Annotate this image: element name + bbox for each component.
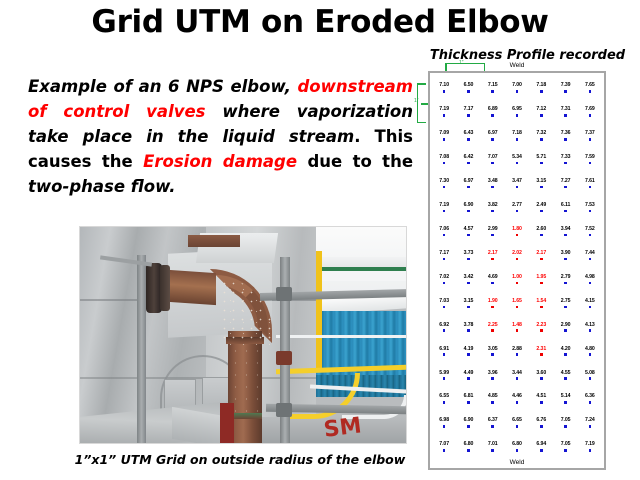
- thickness-value: 7.01: [488, 442, 498, 447]
- thickness-value: 3.73: [464, 251, 474, 256]
- thickness-cell-r11-c1[interactable]: 6.92: [432, 315, 456, 339]
- thickness-value: 6.81: [464, 394, 474, 399]
- measurement-point-marker: [516, 186, 519, 189]
- thickness-value: 2.25: [488, 323, 498, 328]
- thickness-value: 7.69: [585, 107, 595, 112]
- measurement-point-marker: [443, 234, 446, 237]
- thickness-cell-r5-c4[interactable]: 3.47: [505, 172, 529, 196]
- thickness-value: 2.49: [536, 203, 546, 208]
- measurement-point-marker: [467, 401, 470, 404]
- thickness-value: 1.80: [512, 227, 522, 232]
- thickness-value: 5.14: [561, 394, 571, 399]
- thickness-cell-r11-c2[interactable]: 3.78: [456, 315, 480, 339]
- measurement-point-marker: [443, 353, 446, 356]
- thickness-value: 2.77: [512, 203, 522, 208]
- thickness-cell-r2-c2[interactable]: 7.17: [456, 100, 480, 124]
- measurement-point-marker: [516, 329, 519, 332]
- thickness-cell-r16-c6[interactable]: 7.05: [553, 435, 577, 459]
- thickness-cell-r8-c2[interactable]: 3.73: [456, 244, 480, 268]
- measurement-point-marker: [491, 329, 494, 332]
- thickness-cell-r15-c5[interactable]: 6.76: [529, 411, 553, 435]
- thickness-cell-r13-c2[interactable]: 4.49: [456, 363, 480, 387]
- elbow-photo: SM: [79, 226, 407, 444]
- thickness-value: 1.00: [512, 275, 522, 280]
- thickness-value: 7.07: [439, 442, 449, 447]
- measurement-point-marker: [564, 425, 567, 428]
- measurement-point-marker: [443, 449, 446, 452]
- thickness-cell-r9-c7[interactable]: 4.98: [578, 268, 602, 292]
- measurement-point-marker: [564, 234, 567, 237]
- thickness-cell-r2-c3[interactable]: 6.89: [481, 100, 505, 124]
- thickness-value: 7.15: [488, 83, 498, 88]
- thickness-cell-r15-c7[interactable]: 7.24: [578, 411, 602, 435]
- measurement-point-marker: [589, 377, 592, 380]
- thickness-cell-r15-c1[interactable]: 6.98: [432, 411, 456, 435]
- thickness-value: 5.08: [585, 371, 595, 376]
- measurement-point-marker: [516, 425, 519, 428]
- thickness-value: 5.71: [536, 155, 546, 160]
- thickness-value: 3.15: [464, 299, 474, 304]
- thickness-cell-r12-c2[interactable]: 4.19: [456, 339, 480, 363]
- measurement-point-marker: [589, 425, 592, 428]
- thickness-value: 7.59: [585, 155, 595, 160]
- thickness-cell-r9-c3[interactable]: 4.69: [481, 268, 505, 292]
- measurement-point-marker: [491, 377, 494, 380]
- thickness-value: 7.09: [439, 131, 449, 136]
- measurement-point-marker: [516, 306, 519, 309]
- thickness-cell-r4-c2[interactable]: 6.42: [456, 148, 480, 172]
- thickness-value: 2.99: [488, 227, 498, 232]
- thickness-cell-r7-c5[interactable]: 2.60: [529, 220, 553, 244]
- thickness-value: 5.99: [439, 371, 449, 376]
- measurement-point-marker: [491, 425, 494, 428]
- measurement-point-marker: [443, 90, 446, 93]
- thickness-value: 4.49: [464, 371, 474, 376]
- thickness-value: 4.55: [561, 371, 571, 376]
- thickness-grid-panel: 7.106.507.157.007.187.397.657.197.176.89…: [428, 71, 606, 470]
- thickness-value: 7.39: [561, 83, 571, 88]
- thickness-value: 6.50: [464, 83, 474, 88]
- thickness-cell-r9-c5[interactable]: 1.95: [529, 268, 553, 292]
- dimension-marker-horizontal: [445, 63, 485, 71]
- thickness-value: 7.05: [561, 418, 571, 423]
- measurement-point-marker: [443, 329, 446, 332]
- thickness-value: 6.94: [536, 442, 546, 447]
- thickness-cell-r1-c5[interactable]: 7.18: [529, 76, 553, 100]
- elbow-photo-image: SM: [80, 227, 406, 443]
- thickness-cell-r6-c5[interactable]: 2.49: [529, 196, 553, 220]
- measurement-point-marker: [540, 282, 543, 285]
- thickness-cell-r2-c5[interactable]: 7.12: [529, 100, 553, 124]
- thickness-cell-r12-c5[interactable]: 2.31: [529, 339, 553, 363]
- thickness-value: 3.47: [512, 179, 522, 184]
- thickness-cell-r1-c6[interactable]: 7.39: [553, 76, 577, 100]
- measurement-point-marker: [516, 114, 519, 117]
- thickness-cell-r8-c1[interactable]: 7.17: [432, 244, 456, 268]
- measurement-point-marker: [589, 162, 592, 165]
- thickness-cell-r13-c3[interactable]: 3.96: [481, 363, 505, 387]
- thickness-value: 3.60: [536, 371, 546, 376]
- thickness-cell-r13-c4[interactable]: 3.44: [505, 363, 529, 387]
- thickness-value: 7.18: [536, 83, 546, 88]
- description-segment-6: two-phase flow.: [28, 177, 176, 196]
- thickness-cell-r9-c6[interactable]: 2.79: [553, 268, 577, 292]
- thickness-value: 7.44: [585, 251, 595, 256]
- thickness-cell-r5-c7[interactable]: 7.61: [578, 172, 602, 196]
- thickness-value: 5.34: [512, 155, 522, 160]
- thickness-value: 7.18: [512, 131, 522, 136]
- measurement-point-marker: [564, 210, 567, 213]
- thickness-value: 4.20: [561, 347, 571, 352]
- thickness-value: 2.79: [561, 275, 571, 280]
- thickness-cell-r9-c1[interactable]: 7.02: [432, 268, 456, 292]
- thickness-cell-r5-c1[interactable]: 7.30: [432, 172, 456, 196]
- measurement-point-marker: [467, 258, 470, 261]
- thickness-value: 6.37: [488, 418, 498, 423]
- thickness-cell-r3-c3[interactable]: 6.97: [481, 124, 505, 148]
- thickness-value: 1.90: [488, 299, 498, 304]
- thickness-cell-r7-c1[interactable]: 7.06: [432, 220, 456, 244]
- photo-scaffold-clamp-1: [276, 287, 292, 301]
- thickness-value: 2.88: [512, 347, 522, 352]
- thickness-cell-r11-c5[interactable]: 2.23: [529, 315, 553, 339]
- measurement-point-marker: [540, 425, 543, 428]
- description-segment-5: due to the: [297, 152, 413, 171]
- photo-caption: 1”x1” UTM Grid on outside radius of the …: [55, 452, 425, 467]
- thickness-cell-r2-c4[interactable]: 6.95: [505, 100, 529, 124]
- thickness-cell-r10-c6[interactable]: 2.75: [553, 291, 577, 315]
- measurement-point-marker: [516, 258, 519, 261]
- thickness-value: 6.98: [439, 418, 449, 423]
- thickness-value: 7.61: [585, 179, 595, 184]
- thickness-cell-r8-c7[interactable]: 7.44: [578, 244, 602, 268]
- thickness-cell-r1-c3[interactable]: 7.15: [481, 76, 505, 100]
- photo-nozzle-flange-2: [160, 265, 170, 311]
- thickness-cell-r16-c4[interactable]: 6.80: [505, 435, 529, 459]
- thickness-cell-r5-c2[interactable]: 6.97: [456, 172, 480, 196]
- thickness-value: 6.89: [488, 107, 498, 112]
- thickness-cell-r7-c6[interactable]: 3.94: [553, 220, 577, 244]
- measurement-point-marker: [491, 114, 494, 117]
- thickness-cell-r13-c6[interactable]: 4.55: [553, 363, 577, 387]
- thickness-cell-r7-c3[interactable]: 2.99: [481, 220, 505, 244]
- thickness-cell-r3-c7[interactable]: 7.37: [578, 124, 602, 148]
- thickness-cell-r13-c1[interactable]: 5.99: [432, 363, 456, 387]
- measurement-point-marker: [589, 282, 592, 285]
- thickness-value: 7.12: [536, 107, 546, 112]
- thickness-value: 6.95: [512, 107, 522, 112]
- thickness-value: 7.27: [561, 179, 571, 184]
- measurement-point-marker: [564, 258, 567, 261]
- photo-white-rail: [276, 335, 407, 338]
- thickness-cell-r7-c7[interactable]: 7.52: [578, 220, 602, 244]
- measurement-point-marker: [491, 162, 494, 165]
- thickness-value: 7.19: [585, 442, 595, 447]
- measurement-point-marker: [443, 186, 446, 189]
- thickness-value: 3.48: [488, 179, 498, 184]
- measurement-point-marker: [516, 210, 519, 213]
- measurement-point-marker: [516, 90, 519, 93]
- measurement-point-marker: [540, 401, 543, 404]
- thickness-cell-r12-c7[interactable]: 4.80: [578, 339, 602, 363]
- thickness-cell-r3-c1[interactable]: 7.09: [432, 124, 456, 148]
- thickness-cell-r4-c1[interactable]: 7.08: [432, 148, 456, 172]
- thickness-value: 1.48: [512, 323, 522, 328]
- thickness-value: 6.97: [464, 179, 474, 184]
- thickness-cell-r9-c4[interactable]: 1.00: [505, 268, 529, 292]
- measurement-point-marker: [589, 210, 592, 213]
- measurement-point-marker: [467, 162, 470, 165]
- thickness-value: 6.80: [464, 442, 474, 447]
- thickness-cell-r1-c1[interactable]: 7.10: [432, 76, 456, 100]
- thickness-cell-r4-c7[interactable]: 7.59: [578, 148, 602, 172]
- thickness-value: 6.90: [464, 203, 474, 208]
- description-segment-0: Example of an 6 NPS elbow,: [28, 77, 298, 96]
- thickness-cell-r3-c2[interactable]: 6.43: [456, 124, 480, 148]
- thickness-value: 3.82: [488, 203, 498, 208]
- thickness-cell-r12-c4[interactable]: 2.88: [505, 339, 529, 363]
- thickness-value: 3.96: [488, 371, 498, 376]
- page-title: Grid UTM on Eroded Elbow: [0, 4, 640, 40]
- thickness-cell-r7-c4[interactable]: 1.80: [505, 220, 529, 244]
- thickness-cell-r13-c5[interactable]: 3.60: [529, 363, 553, 387]
- thickness-cell-r1-c2[interactable]: 6.50: [456, 76, 480, 100]
- photo-scaffold-clamp-2: [276, 351, 292, 365]
- thickness-value: 4.85: [488, 394, 498, 399]
- thickness-cell-r3-c6[interactable]: 7.36: [553, 124, 577, 148]
- measurement-point-marker: [516, 401, 519, 404]
- measurement-point-marker: [443, 162, 446, 165]
- measurement-point-marker: [589, 353, 592, 356]
- measurement-point-marker: [516, 282, 519, 285]
- measurement-point-marker: [491, 353, 494, 356]
- thickness-value: 3.44: [512, 371, 522, 376]
- thickness-cell-r16-c3[interactable]: 7.01: [481, 435, 505, 459]
- thickness-cell-r16-c7[interactable]: 7.19: [578, 435, 602, 459]
- photo-utm-grid-marks-lower: [230, 345, 260, 415]
- grid-heading: Thickness Profile recorded: [420, 48, 635, 63]
- thickness-value: 6.91: [439, 347, 449, 352]
- thickness-cell-r6-c6[interactable]: 6.11: [553, 196, 577, 220]
- thickness-value: 3.05: [488, 347, 498, 352]
- thickness-value: 6.43: [464, 131, 474, 136]
- measurement-point-marker: [491, 306, 494, 309]
- measurement-point-marker: [564, 186, 567, 189]
- thickness-cell-r4-c5[interactable]: 5.71: [529, 148, 553, 172]
- measurement-point-marker: [564, 377, 567, 380]
- description-segment-4: Erosion damage: [143, 152, 297, 171]
- thickness-cell-r11-c4[interactable]: 1.48: [505, 315, 529, 339]
- thickness-value: 2.17: [488, 251, 498, 256]
- weld-label-bottom: Weld: [428, 459, 606, 466]
- measurement-point-marker: [467, 210, 470, 213]
- measurement-point-marker: [589, 234, 592, 237]
- thickness-cell-r10-c2[interactable]: 3.15: [456, 291, 480, 315]
- thickness-value: 2.02: [512, 251, 522, 256]
- thickness-cell-r10-c1[interactable]: 7.03: [432, 291, 456, 315]
- thickness-cell-r11-c7[interactable]: 4.13: [578, 315, 602, 339]
- measurement-point-marker: [564, 162, 567, 165]
- thickness-value: 3.94: [561, 227, 571, 232]
- thickness-cell-r14-c1[interactable]: 6.55: [432, 387, 456, 411]
- measurement-point-marker: [443, 377, 446, 380]
- thickness-value: 7.24: [585, 418, 595, 423]
- measurement-point-marker: [540, 114, 543, 117]
- measurement-point-marker: [467, 186, 470, 189]
- measurement-point-marker: [443, 138, 446, 141]
- measurement-point-marker: [540, 353, 543, 356]
- photo-scaffold-clamp-3: [276, 403, 292, 417]
- thickness-value: 7.32: [536, 131, 546, 136]
- thickness-value: 2.31: [536, 347, 546, 352]
- thickness-cell-r3-c4[interactable]: 7.18: [505, 124, 529, 148]
- thickness-cell-r2-c1[interactable]: 7.19: [432, 100, 456, 124]
- thickness-cell-r5-c6[interactable]: 7.27: [553, 172, 577, 196]
- thickness-cell-r14-c6[interactable]: 5.14: [553, 387, 577, 411]
- thickness-cell-r6-c4[interactable]: 2.77: [505, 196, 529, 220]
- thickness-cell-r13-c7[interactable]: 5.08: [578, 363, 602, 387]
- thickness-cell-r12-c6[interactable]: 4.20: [553, 339, 577, 363]
- thickness-cell-r6-c1[interactable]: 7.19: [432, 196, 456, 220]
- thickness-cell-r14-c4[interactable]: 4.46: [505, 387, 529, 411]
- thickness-cell-r8-c5[interactable]: 2.17: [529, 244, 553, 268]
- measurement-point-marker: [589, 90, 592, 93]
- measurement-point-marker: [467, 449, 470, 452]
- measurement-point-marker: [564, 353, 567, 356]
- thickness-cell-r3-c5[interactable]: 7.32: [529, 124, 553, 148]
- thickness-cell-r10-c7[interactable]: 4.15: [578, 291, 602, 315]
- thickness-cell-r8-c4[interactable]: 2.02: [505, 244, 529, 268]
- thickness-value: 6.11: [561, 203, 570, 208]
- thickness-grid-table: 7.106.507.157.007.187.397.657.197.176.89…: [430, 73, 604, 468]
- thickness-cell-r14-c2[interactable]: 6.81: [456, 387, 480, 411]
- thickness-value: 4.13: [585, 323, 595, 328]
- thickness-value: 7.17: [464, 107, 474, 112]
- measurement-point-marker: [564, 401, 567, 404]
- thickness-value: 1.54: [536, 299, 546, 304]
- measurement-point-marker: [516, 449, 519, 452]
- thickness-cell-r14-c7[interactable]: 6.36: [578, 387, 602, 411]
- thickness-cell-r4-c6[interactable]: 7.33: [553, 148, 577, 172]
- measurement-point-marker: [467, 90, 470, 93]
- measurement-point-marker: [564, 282, 567, 285]
- thickness-value: 1.95: [536, 275, 546, 280]
- thickness-cell-r12-c3[interactable]: 3.05: [481, 339, 505, 363]
- thickness-cell-r7-c2[interactable]: 4.57: [456, 220, 480, 244]
- thickness-value: 4.51: [536, 394, 546, 399]
- thickness-value: 7.31: [561, 107, 571, 112]
- thickness-cell-r14-c3[interactable]: 4.85: [481, 387, 505, 411]
- thickness-cell-r4-c3[interactable]: 7.07: [481, 148, 505, 172]
- thickness-cell-r5-c3[interactable]: 3.48: [481, 172, 505, 196]
- thickness-value: 6.92: [439, 323, 449, 328]
- thickness-cell-r11-c3[interactable]: 2.25: [481, 315, 505, 339]
- thickness-cell-r16-c2[interactable]: 6.80: [456, 435, 480, 459]
- thickness-cell-r11-c6[interactable]: 2.90: [553, 315, 577, 339]
- measurement-point-marker: [540, 234, 543, 237]
- thickness-cell-r15-c3[interactable]: 6.37: [481, 411, 505, 435]
- thickness-value: 7.52: [585, 227, 595, 232]
- thickness-cell-r10-c5[interactable]: 1.54: [529, 291, 553, 315]
- thickness-cell-r4-c4[interactable]: 5.34: [505, 148, 529, 172]
- measurement-point-marker: [467, 234, 470, 237]
- thickness-cell-r16-c1[interactable]: 7.07: [432, 435, 456, 459]
- measurement-point-marker: [516, 353, 519, 356]
- thickness-cell-r14-c5[interactable]: 4.51: [529, 387, 553, 411]
- measurement-point-marker: [540, 329, 543, 332]
- thickness-value: 2.90: [561, 323, 571, 328]
- thickness-value: 7.53: [585, 203, 595, 208]
- measurement-point-marker: [443, 210, 446, 213]
- photo-yellow-handrail-vertical: [316, 251, 322, 371]
- thickness-value: 6.65: [512, 418, 522, 423]
- thickness-value: 7.05: [561, 442, 571, 447]
- thickness-cell-r15-c6[interactable]: 7.05: [553, 411, 577, 435]
- measurement-point-marker: [540, 90, 543, 93]
- photo-red-marking: [220, 403, 234, 443]
- thickness-value: 4.69: [488, 275, 498, 280]
- measurement-point-marker: [540, 377, 543, 380]
- thickness-cell-r1-c4[interactable]: 7.00: [505, 76, 529, 100]
- thickness-cell-r1-c7[interactable]: 7.65: [578, 76, 602, 100]
- thickness-value: 6.55: [439, 394, 449, 399]
- thickness-cell-r9-c2[interactable]: 3.42: [456, 268, 480, 292]
- thickness-cell-r8-c3[interactable]: 2.17: [481, 244, 505, 268]
- measurement-point-marker: [516, 162, 519, 165]
- measurement-point-marker: [467, 425, 470, 428]
- measurement-point-marker: [443, 425, 446, 428]
- measurement-point-marker: [589, 449, 592, 452]
- thickness-cell-r10-c4[interactable]: 1.65: [505, 291, 529, 315]
- measurement-point-marker: [467, 282, 470, 285]
- measurement-point-marker: [491, 401, 494, 404]
- thickness-cell-r15-c2[interactable]: 6.90: [456, 411, 480, 435]
- measurement-point-marker: [443, 258, 446, 261]
- description-text: Example of an 6 NPS elbow, downstream of…: [28, 74, 413, 199]
- thickness-value: 3.78: [464, 323, 474, 328]
- thickness-cell-r16-c5[interactable]: 6.94: [529, 435, 553, 459]
- measurement-point-marker: [491, 210, 494, 213]
- measurement-point-marker: [467, 114, 470, 117]
- thickness-cell-r12-c1[interactable]: 6.91: [432, 339, 456, 363]
- thickness-value: 7.65: [585, 83, 595, 88]
- measurement-point-marker: [491, 138, 494, 141]
- thickness-cell-r6-c2[interactable]: 6.90: [456, 196, 480, 220]
- measurement-point-marker: [516, 138, 519, 141]
- measurement-point-marker: [491, 449, 494, 452]
- measurement-point-marker: [589, 401, 592, 404]
- thickness-cell-r10-c3[interactable]: 1.90: [481, 291, 505, 315]
- thickness-cell-r15-c4[interactable]: 6.65: [505, 411, 529, 435]
- thickness-cell-r2-c6[interactable]: 7.31: [553, 100, 577, 124]
- photo-scaffold-pole-left: [137, 255, 146, 444]
- thickness-cell-r5-c5[interactable]: 3.15: [529, 172, 553, 196]
- thickness-value: 2.60: [536, 227, 546, 232]
- photo-top-flange: [188, 235, 240, 247]
- thickness-cell-r6-c3[interactable]: 3.82: [481, 196, 505, 220]
- thickness-cell-r2-c7[interactable]: 7.69: [578, 100, 602, 124]
- thickness-cell-r8-c6[interactable]: 3.90: [553, 244, 577, 268]
- measurement-point-marker: [467, 377, 470, 380]
- thickness-cell-r6-c7[interactable]: 7.53: [578, 196, 602, 220]
- thickness-value: 7.30: [439, 179, 449, 184]
- thickness-value: 7.37: [585, 131, 595, 136]
- measurement-point-marker: [564, 90, 567, 93]
- thickness-value: 4.15: [585, 299, 595, 304]
- thickness-value: 7.00: [512, 83, 522, 88]
- measurement-point-marker: [589, 258, 592, 261]
- dimension-label-vertical: 1”: [414, 98, 418, 104]
